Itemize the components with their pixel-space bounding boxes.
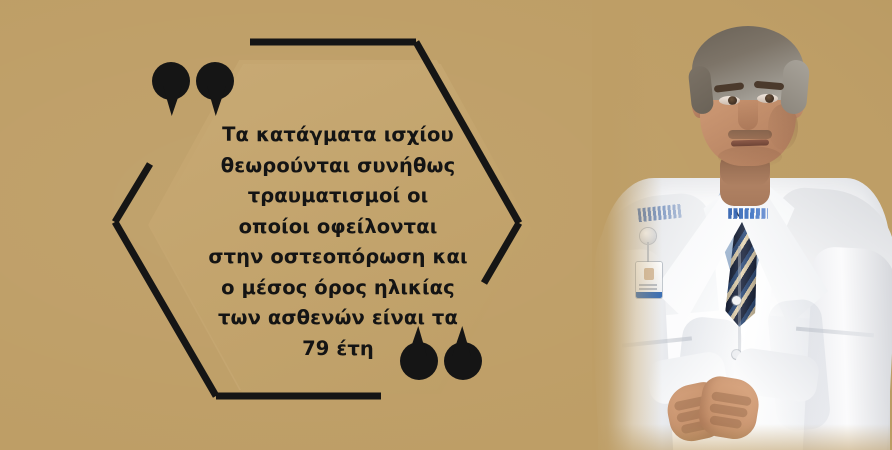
quote-line: Τα κατάγματα ισχίου xyxy=(178,120,498,151)
quote-line: στην οστεοπόρωση και xyxy=(178,242,498,273)
quote-line: οποίοι οφείλονται xyxy=(178,212,498,243)
opening-quote-icon xyxy=(152,62,240,124)
quote-line: τραυματισμοί οι xyxy=(178,181,498,212)
quote-glyph xyxy=(152,62,190,120)
quote-tail xyxy=(408,326,427,356)
hair-side-right xyxy=(780,59,811,115)
quote-tail xyxy=(452,326,471,356)
nose xyxy=(738,100,758,130)
quote-glyph xyxy=(444,322,482,380)
quote-tail xyxy=(163,86,182,116)
moustache-shadow xyxy=(728,130,772,139)
iris xyxy=(765,94,774,103)
hospital-logo xyxy=(728,208,768,219)
eye-right xyxy=(757,94,778,103)
photo-bottom-fade xyxy=(592,424,892,450)
quote-line: θεωρούνται συνήθως xyxy=(178,151,498,182)
coat-button xyxy=(732,296,741,305)
quote-glyph xyxy=(400,322,438,380)
chin-shadow xyxy=(718,146,782,168)
eye-left xyxy=(719,96,740,105)
doctor-portrait xyxy=(592,0,892,450)
photo-left-fade xyxy=(592,0,662,450)
quote-tail xyxy=(207,86,226,116)
iris xyxy=(728,96,737,105)
quote-card: Τα κατάγματα ισχίου θεωρούνται συνήθως τ… xyxy=(0,0,892,450)
closing-quote-icon xyxy=(400,322,488,384)
quote-glyph xyxy=(196,62,234,120)
quote-line: ο μέσος όρος ηλικίας xyxy=(178,273,498,304)
